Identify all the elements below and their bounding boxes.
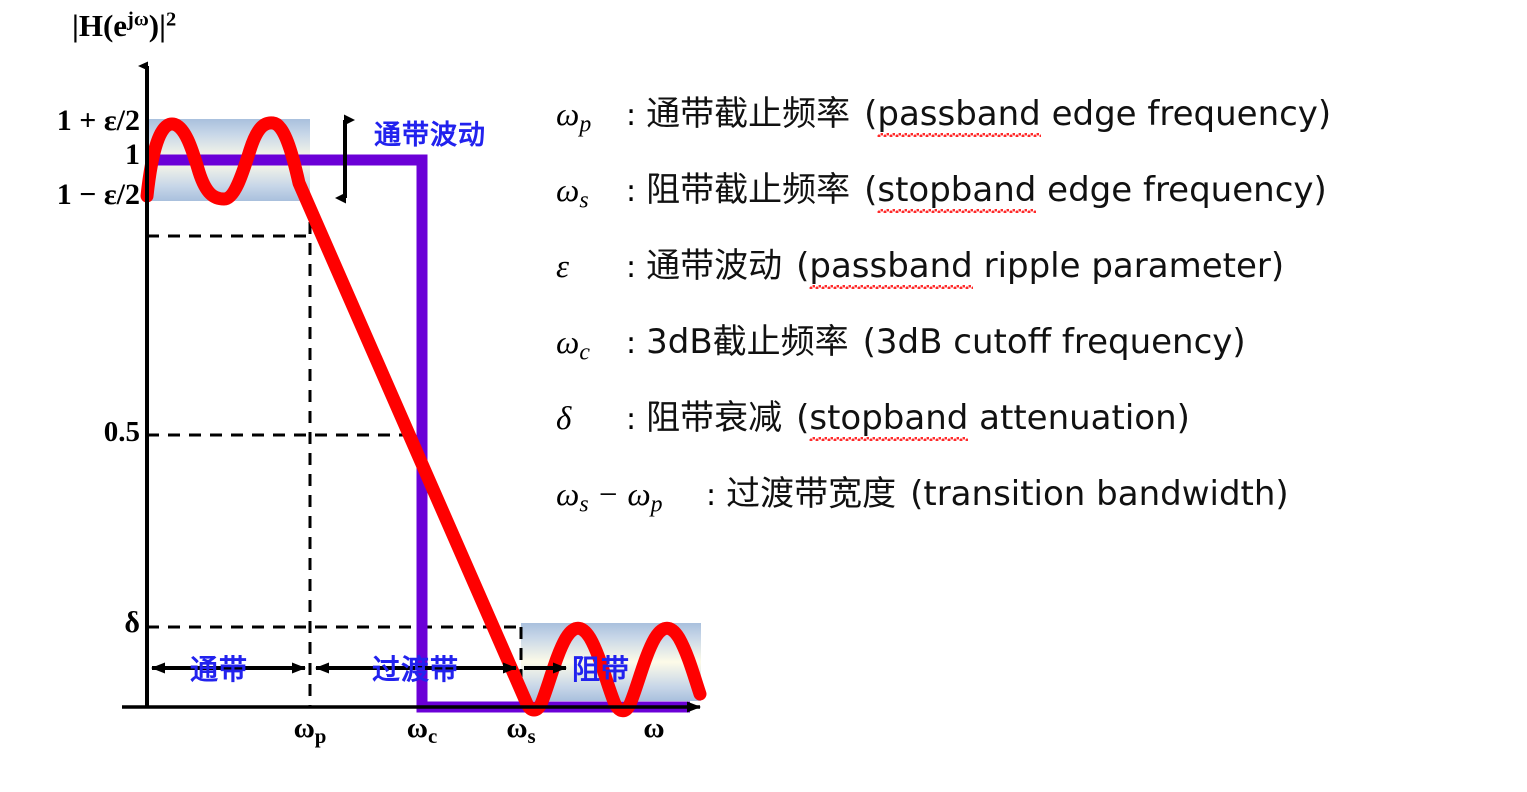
legend-cn-delta: 阻带衰减	[646, 390, 782, 439]
legend-en-wp: (passband edge frequency)	[864, 94, 1331, 134]
legend-symbol-delta: δ	[556, 401, 626, 438]
y-title-main: |H(e	[72, 8, 127, 43]
legend-en-ws: (stopband edge frequency)	[864, 170, 1327, 210]
legend-symbol-wp: ωp	[556, 97, 626, 139]
legend-colon: :	[626, 402, 636, 437]
legend-symbol-ws: ωs	[556, 173, 626, 215]
x-label-omega: ω	[614, 712, 694, 745]
legend-en-wc: (3dB cutoff frequency)	[863, 322, 1246, 362]
x-label-ws-base: ω	[506, 712, 527, 744]
legend-row-delta: δ : 阻带衰减 (stopband attenuation)	[556, 390, 1521, 466]
legend-cn-wp: 通带截止频率	[646, 86, 850, 135]
legend-symbol-wc: ωc	[556, 325, 626, 367]
x-label-wp-base: ω	[294, 712, 315, 744]
y-axis-title: |H(ejω)|2	[72, 8, 176, 44]
x-label-wc-base: ω	[407, 712, 428, 744]
filter-spec-figure: |H(ejω)|2 1 + ε/2 1 1 − ε/2 0.5 δ ωp ωc …	[0, 0, 1527, 792]
x-label-wp: ωp	[270, 712, 350, 749]
spellcheck-word: stopband	[877, 170, 1036, 210]
spellcheck-word: passband	[809, 246, 972, 286]
spellcheck-word: passband	[877, 94, 1040, 134]
x-label-wp-sub: p	[315, 724, 327, 748]
legend-row-epsilon: ε : 通带波动 (passband ripple parameter)	[556, 238, 1521, 314]
legend-list: ωp : 通带截止频率 (passband edge frequency) ωs…	[556, 86, 1521, 542]
legend-colon: :	[626, 98, 636, 133]
y-label-upper: 1 + ε/2	[0, 104, 140, 138]
y-label-delta: δ	[0, 606, 140, 640]
legend-row-transition-bw: ωs − ωp : 过渡带宽度 (transition bandwidth)	[556, 466, 1521, 542]
legend-cn-ws: 阻带截止频率	[646, 162, 850, 211]
y-title-power: 2	[166, 8, 176, 30]
legend-cn-transition-bw: 过渡带宽度	[726, 466, 896, 515]
legend-colon: :	[626, 250, 636, 285]
legend-en-delta: (stopband attenuation)	[796, 398, 1190, 438]
y-label-unity: 1	[0, 138, 140, 172]
legend-colon: :	[706, 478, 716, 513]
stopband-label: 阻带	[572, 648, 630, 688]
x-label-wc-sub: c	[428, 724, 437, 748]
legend-row-wp: ωp : 通带截止频率 (passband edge frequency)	[556, 86, 1521, 162]
y-title-superscript: jω	[127, 8, 149, 30]
legend-symbol-epsilon: ε	[556, 249, 626, 286]
legend-row-wc: ωc : 3dB截止频率 (3dB cutoff frequency)	[556, 314, 1521, 390]
passband-ripple-label: 通带波动	[374, 113, 486, 152]
legend-colon: :	[626, 174, 636, 209]
spellcheck-word: stopband	[809, 398, 968, 438]
x-label-wc: ωc	[382, 712, 462, 749]
legend-symbol-transition-bw: ωs − ωp	[556, 477, 706, 519]
legend-row-ws: ωs : 阻带截止频率 (stopband edge frequency)	[556, 162, 1521, 238]
y-title-close: )|	[149, 8, 166, 43]
legend-cn-epsilon: 通带波动	[646, 238, 782, 287]
legend-en-transition-bw: (transition bandwidth)	[910, 474, 1289, 514]
legend-cn-wc: 3dB截止频率	[646, 314, 849, 363]
y-label-half: 0.5	[0, 416, 140, 449]
legend-en-epsilon: (passband ripple parameter)	[796, 246, 1284, 286]
x-label-ws: ωs	[481, 712, 561, 749]
passband-label: 通带	[190, 648, 248, 688]
x-label-ws-sub: s	[528, 724, 536, 748]
legend-colon: :	[626, 326, 636, 361]
y-label-lower: 1 − ε/2	[0, 178, 140, 212]
transition-band-label: 过渡带	[372, 648, 459, 688]
